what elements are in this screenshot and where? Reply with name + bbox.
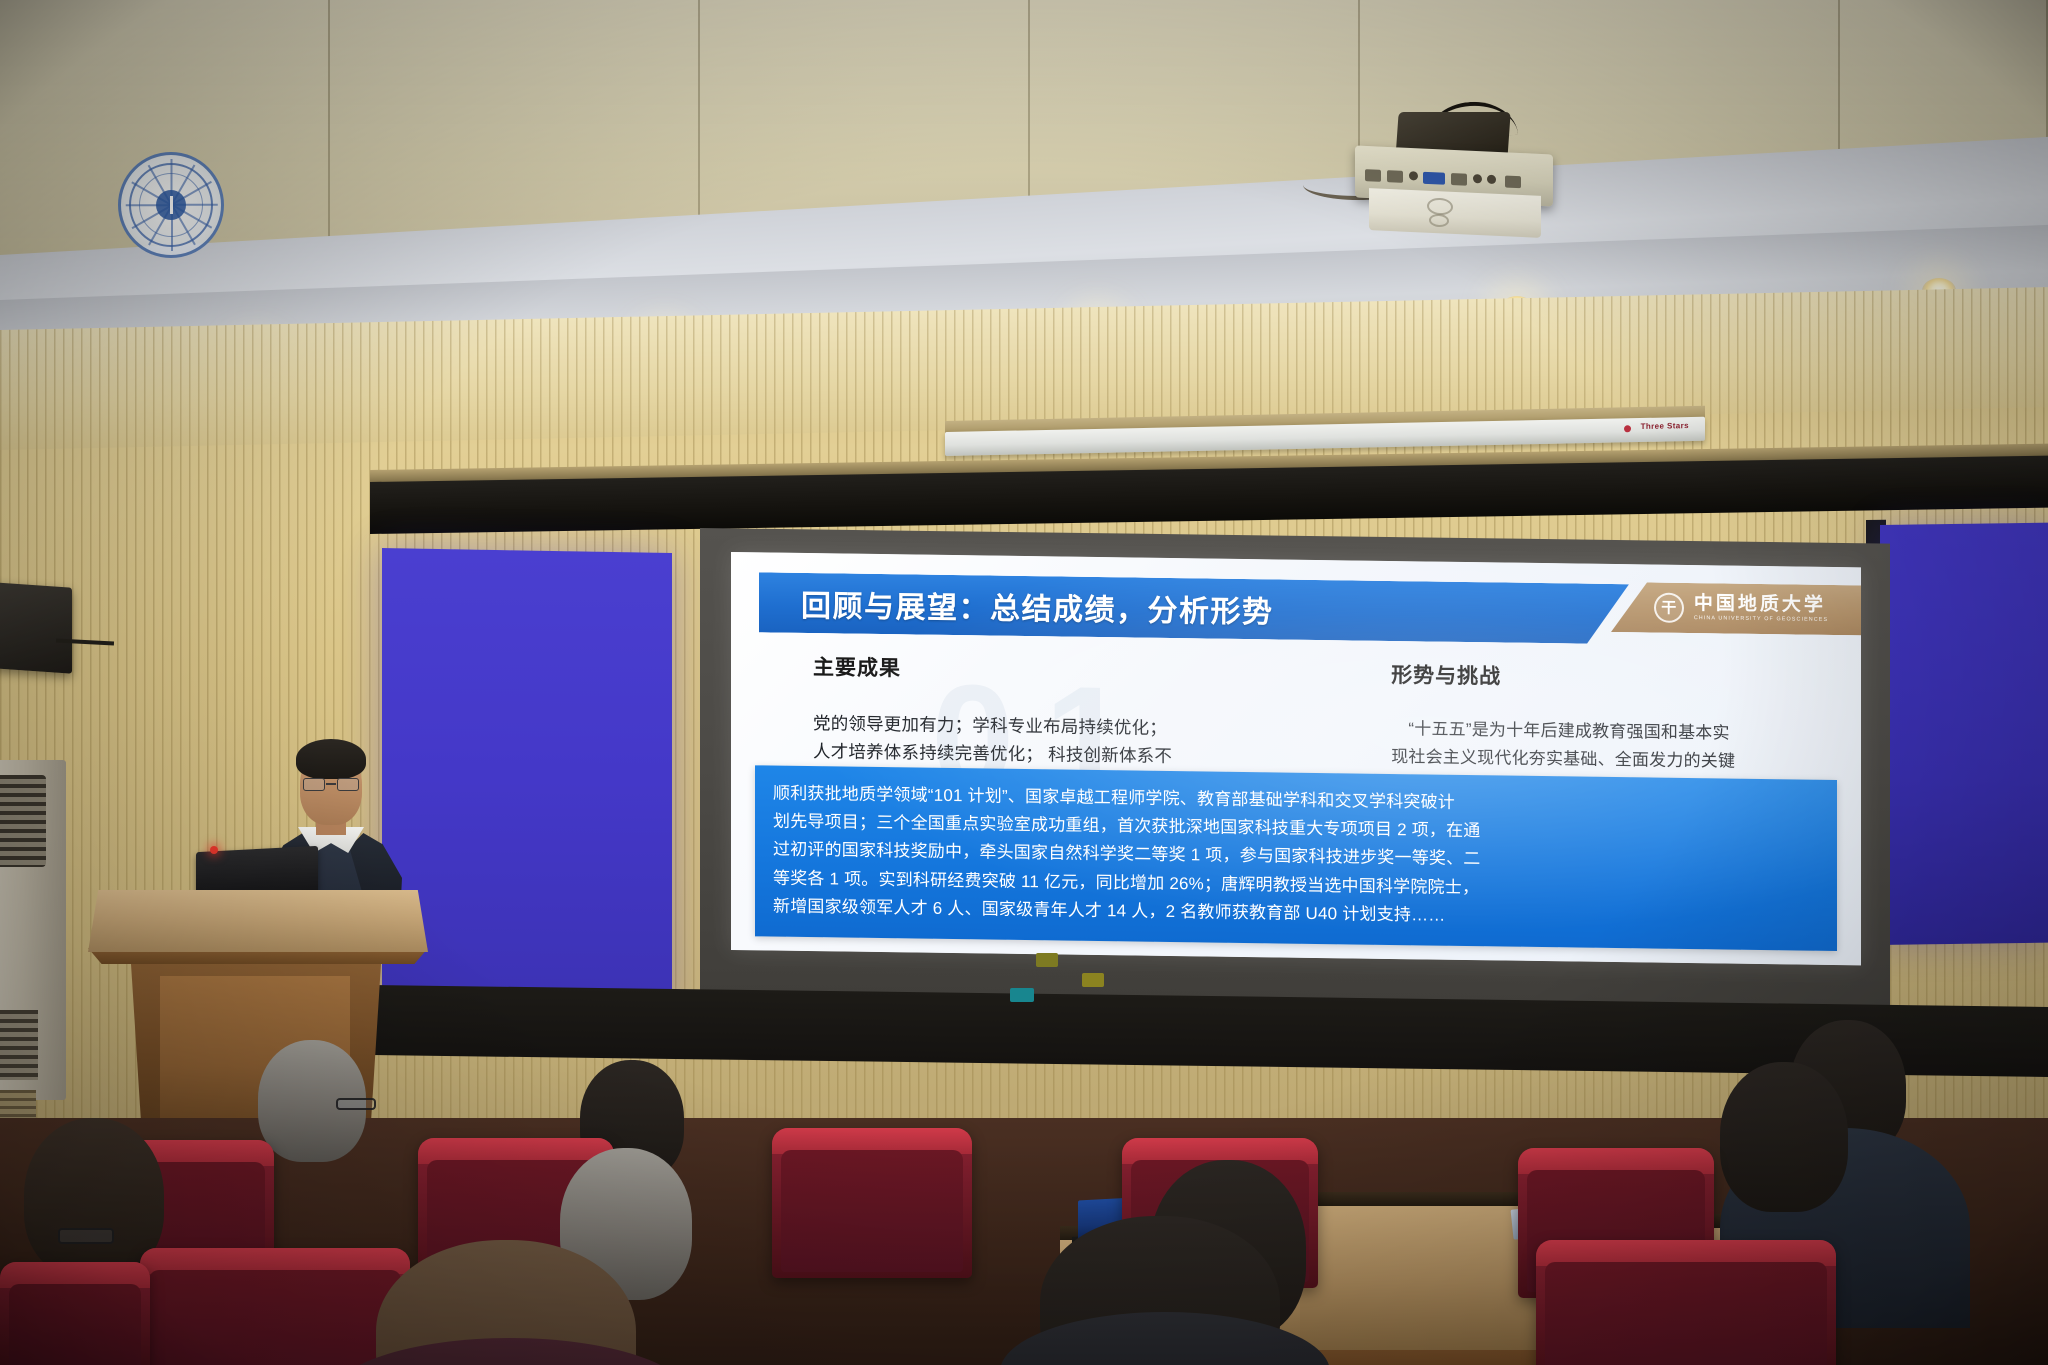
- podium-top: [88, 890, 428, 952]
- audience-head: [1720, 1062, 1848, 1212]
- air-conditioner-grill: [0, 775, 46, 867]
- wall-speaker: [0, 582, 72, 673]
- stage-chip-olive-1: [1036, 953, 1058, 967]
- glasses-icon: [336, 1098, 376, 1110]
- projector-lens-housing: [1369, 188, 1541, 238]
- slide-title-row: 回顾与展望：总结成绩，分析形势 干 中国地质大学 CHINA UNIVERSIT…: [731, 572, 1861, 649]
- auditorium-seat[interactable]: [0, 1262, 150, 1365]
- slide-title: 回顾与展望：总结成绩，分析形势: [801, 581, 1274, 631]
- lecture-hall-photo: Three Stars 01 回顾与展望：总结成绩，分析形势 干 中国地质大学 …: [0, 0, 2048, 1365]
- ceiling-projector: [1355, 118, 1555, 233]
- glasses-icon: [303, 778, 359, 791]
- air-conditioner-lower-grill: [0, 1010, 38, 1080]
- auditorium-seat[interactable]: [140, 1248, 410, 1365]
- glasses-icon: [58, 1228, 114, 1244]
- university-emblem-icon: [118, 152, 224, 258]
- projector-focus-ring: [1429, 214, 1449, 228]
- led-panel-right: [1880, 523, 2048, 945]
- screen-brand-label: Three Stars: [1641, 421, 1689, 431]
- presenter-hair: [296, 739, 366, 779]
- auditorium-seat[interactable]: [772, 1128, 972, 1278]
- laptop-power-led-icon: [210, 846, 218, 854]
- slide-highlight-box: 顺利获批地质学领域“101 计划”、国家卓越工程师学院、教育部基础学科和交叉学科…: [755, 765, 1837, 951]
- university-seal-icon: 干: [1654, 593, 1684, 623]
- column-heading: 形势与挑战: [1391, 659, 1831, 695]
- auditorium-seat[interactable]: [1536, 1240, 1836, 1365]
- brand-dot-icon: [1624, 425, 1631, 432]
- column-heading: 主要成果: [813, 651, 1311, 688]
- university-name-en: CHINA UNIVERSITY OF GEOSCIENCES: [1694, 616, 1828, 623]
- stage-chip-teal: [1010, 988, 1034, 1002]
- slide-title-bar: 回顾与展望：总结成绩，分析形势: [759, 572, 1629, 644]
- university-name-cn: 中国地质大学: [1694, 594, 1828, 615]
- university-logo-bar: 干 中国地质大学 CHINA UNIVERSITY OF GEOSCIENCES: [1611, 582, 1861, 636]
- stage-chip-olive-2: [1082, 973, 1104, 987]
- projected-slide: 01 回顾与展望：总结成绩，分析形势 干 中国地质大学 CHINA UNIVER…: [731, 552, 1861, 965]
